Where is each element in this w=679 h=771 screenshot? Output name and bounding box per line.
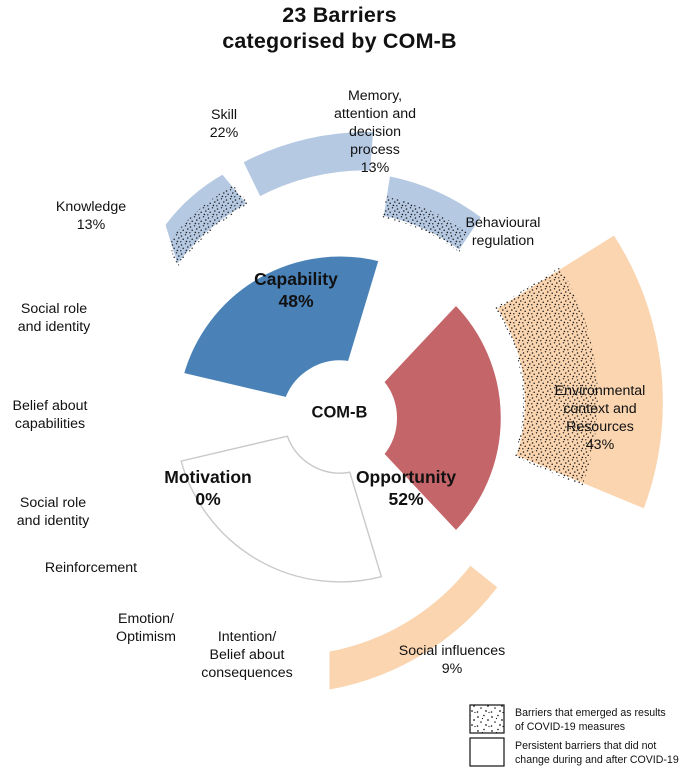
label-behavioural-regulation-line-1: Behavioural — [466, 215, 541, 231]
legend-swatch-plain-icon — [470, 738, 504, 766]
label-capability-name: Capability — [254, 269, 338, 289]
center-label: COM-B — [312, 403, 368, 421]
label-motivation-pct: 0% — [195, 489, 221, 509]
label-skill-pct: 22% — [210, 125, 239, 141]
label-emotion-optimism-line-2: Optimism — [116, 629, 176, 645]
label-intention-belief-line-3: consequences — [201, 665, 293, 681]
label-belief-about-capabilities-line-1: Belief about — [13, 398, 88, 414]
legend-emerged-line-1: Barriers that emerged as results — [515, 707, 666, 719]
label-knowledge-name: Knowledge — [56, 199, 126, 215]
label-environmental-line-1: Environmental — [555, 383, 646, 399]
legend: Barriers that emerged as results of COVI… — [470, 705, 679, 766]
label-motivation-name: Motivation — [164, 467, 252, 487]
label-social-influences-pct: 9% — [442, 661, 463, 677]
outer-segment-memory-attention-decision[interactable] — [382, 174, 484, 253]
label-behavioural-regulation-line-2: regulation — [472, 233, 534, 249]
label-social-role-identity-top-line-1: Social role — [21, 301, 87, 317]
label-social-role-identity-bottom-line-1: Social role — [20, 495, 86, 511]
label-memory-pct: 13% — [361, 160, 390, 176]
label-social-influences-name: Social influences — [399, 643, 505, 659]
outer-segment-knowledge[interactable] — [163, 172, 249, 268]
label-opportunity-name: Opportunity — [356, 467, 456, 487]
label-environmental-line-2: context and — [563, 401, 636, 417]
legend-persistent-line-2: change during and after COVID-19 — [515, 754, 679, 766]
label-opportunity-pct: 52% — [388, 489, 423, 509]
label-capability-pct: 48% — [278, 291, 313, 311]
label-social-role-identity-top-line-2: and identity — [18, 319, 91, 335]
label-intention-belief-line-2: Belief about — [210, 647, 285, 663]
outer-segment-environmental-context-resources[interactable] — [495, 233, 665, 511]
label-memory-line-2: attention and — [334, 106, 416, 122]
label-intention-belief-line-1: Intention/ — [218, 629, 276, 645]
label-emotion-optimism-line-1: Emotion/ — [118, 611, 174, 627]
label-knowledge-pct: 13% — [77, 217, 106, 233]
label-reinforcement: Reinforcement — [45, 560, 137, 576]
legend-persistent-line-1: Persistent barriers that did not — [515, 740, 656, 752]
label-memory-line-4: process — [350, 142, 400, 158]
label-memory-line-3: decision — [349, 124, 401, 140]
label-memory-line-1: Memory, — [348, 88, 402, 104]
comb-sunburst-chart: COM-B Capability 48% Opportunity 52% Mot… — [0, 0, 679, 771]
label-environmental-line-3: Resources — [566, 419, 634, 435]
label-skill-name: Skill — [211, 107, 237, 123]
inner-segment-capability[interactable] — [158, 218, 419, 439]
legend-item-persistent[interactable]: Persistent barriers that did not change … — [470, 738, 679, 766]
legend-item-emerged[interactable]: Barriers that emerged as results of COVI… — [470, 705, 666, 733]
label-social-role-identity-bottom-line-2: and identity — [17, 513, 90, 529]
outer-segment-social-influences[interactable] — [328, 563, 501, 692]
label-belief-about-capabilities-line-2: capabilities — [15, 416, 85, 432]
label-environmental-pct: 43% — [586, 437, 615, 453]
legend-emerged-line-2: of COVID-19 measures — [515, 721, 625, 733]
outer-segment-skill[interactable] — [241, 130, 375, 199]
